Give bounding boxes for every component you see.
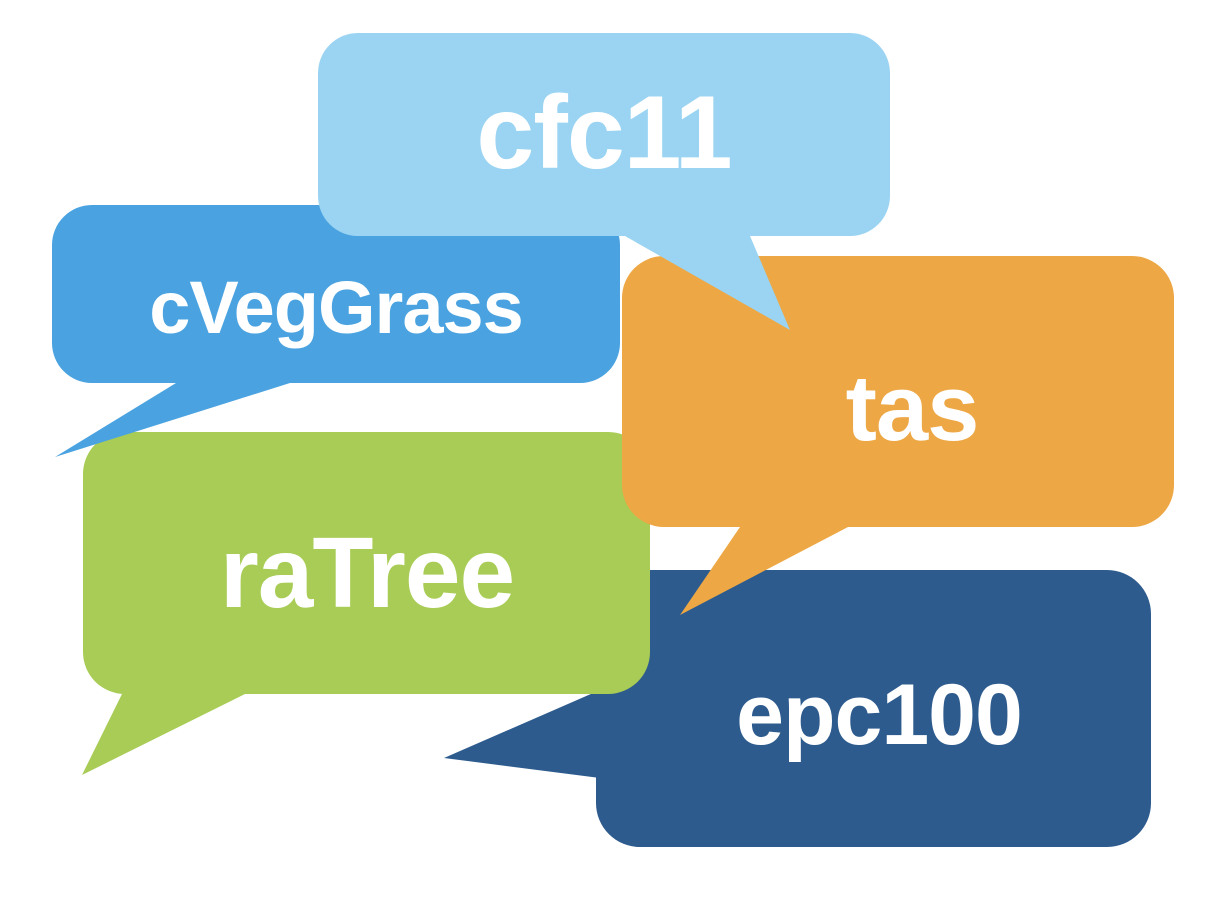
bubble-canvas: epc100raTreetascVegGrasscfc11 [0,0,1224,900]
speech-bubble-tas[interactable]: tas [622,256,1174,615]
bubble-tail-epc100 [444,690,600,778]
bubble-label-raTree: raTree [220,517,514,629]
bubble-tail-raTree [82,694,245,775]
bubble-label-epc100: epc100 [736,667,1022,763]
speech-bubble-cluster: epc100raTreetascVegGrasscfc11 [0,0,1224,900]
bubble-label-tas: tas [846,355,979,460]
bubble-label-cfc11: cfc11 [476,75,731,191]
speech-bubble-cVegGrass[interactable]: cVegGrass [52,205,620,457]
bubble-label-cVegGrass: cVegGrass [149,266,523,349]
